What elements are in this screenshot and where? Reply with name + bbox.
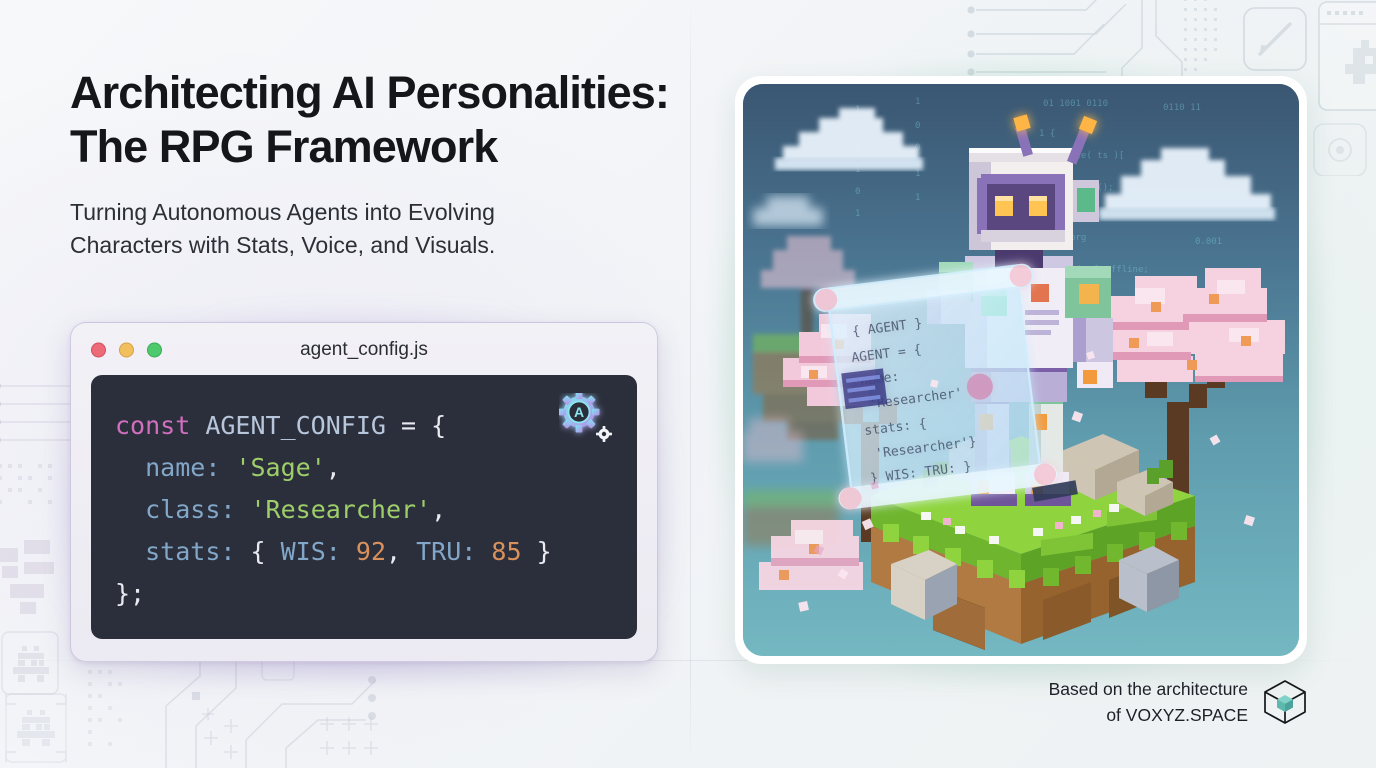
token-key-name: name: [145, 453, 220, 482]
illustration-container: 01 1001 0110 0110 11 1 { simulate( ts )[… [735, 76, 1307, 664]
code-editor-area[interactable]: const AGENT_CONFIG = { name: 'Sage', cla… [91, 375, 637, 639]
token-close-brace: }; [115, 579, 145, 608]
token-key-class: class: [145, 495, 235, 524]
code-window[interactable]: agent_config.js const AGENT_CONFIG = { n… [70, 322, 658, 662]
gear-a-icon: A [559, 393, 615, 445]
svg-text:0.001: 0.001 [1195, 237, 1222, 247]
svg-text:0: 0 [915, 121, 920, 131]
token-stats-close: } [537, 537, 552, 566]
token-assign-open: = { [401, 411, 446, 440]
token-stats-comma: , [386, 537, 401, 566]
robot-bracket-icon [6, 694, 66, 762]
svg-text:1 {: 1 { [1039, 129, 1055, 139]
attribution-block: Based on the architecture of VOXYZ.SPACE [1049, 676, 1308, 728]
token-stat-wis-key: WIS: [281, 537, 341, 566]
code-window-titlebar: agent_config.js [71, 323, 657, 377]
attribution-text: Based on the architecture of VOXYZ.SPACE [1049, 676, 1248, 728]
token-stat-tru-value: 85 [491, 537, 521, 566]
token-comma-2: , [431, 495, 446, 524]
svg-text:1: 1 [855, 209, 860, 219]
token-const-name: AGENT_CONFIG [205, 411, 386, 440]
token-value-name: 'Sage' [235, 453, 325, 482]
voxyz-cube-logo[interactable] [1262, 679, 1308, 725]
token-stats-open: { [250, 537, 265, 566]
token-stat-tru-key: TRU: [416, 537, 476, 566]
svg-text:0: 0 [855, 187, 860, 197]
code-content: const AGENT_CONFIG = { name: 'Sage', cla… [115, 405, 617, 615]
poster-canvas: Architecting AI Personalities: The RPG F… [0, 0, 1376, 768]
voxel-robot-illustration: 01 1001 0110 0110 11 1 { simulate( ts )[… [743, 84, 1299, 656]
illustration-frame: 01 1001 0110 0110 11 1 { simulate( ts )[… [735, 76, 1307, 664]
page-subtitle: Turning Autonomous Agents into Evolving … [70, 196, 730, 262]
token-key-stats: stats: [145, 537, 235, 566]
page-title: Architecting AI Personalities: The RPG F… [70, 66, 730, 174]
token-keyword: const [115, 411, 190, 440]
svg-text:1: 1 [915, 169, 920, 179]
badge-letter: A [574, 404, 584, 420]
token-value-class: 'Researcher' [250, 495, 431, 524]
token-comma-1: , [326, 453, 341, 482]
svg-text:01 1001 0110: 01 1001 0110 [1043, 99, 1108, 109]
filename-label: agent_config.js [71, 339, 657, 361]
hero-text-block: Architecting AI Personalities: The RPG F… [70, 66, 730, 262]
robot-window-icon [1319, 2, 1376, 110]
svg-text:1: 1 [915, 193, 920, 203]
svg-text:0110 11: 0110 11 [1163, 103, 1201, 113]
token-stat-wis-value: 92 [356, 537, 386, 566]
code-window-container: agent_config.js const AGENT_CONFIG = { n… [70, 322, 658, 662]
svg-text:1: 1 [915, 97, 920, 107]
robot-chip-icon [2, 632, 58, 694]
